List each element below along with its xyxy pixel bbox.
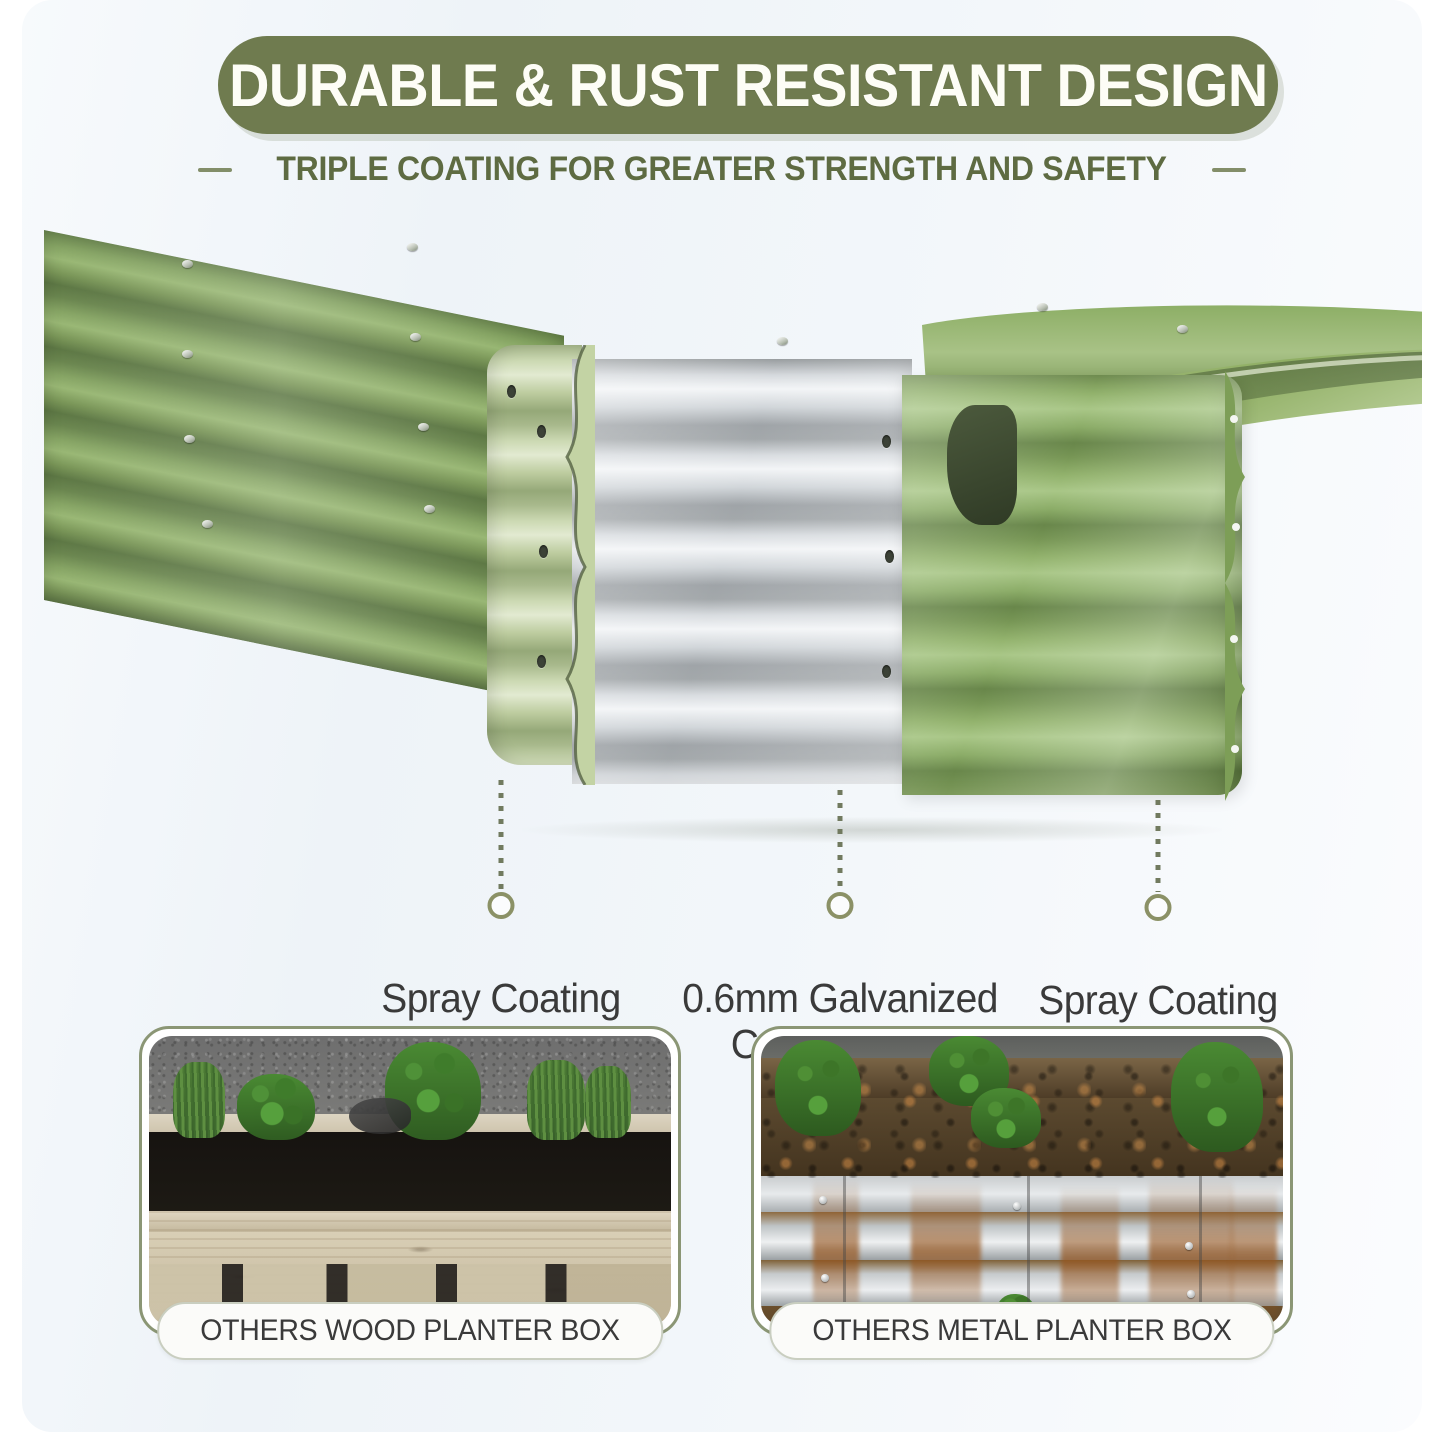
callout-dotted-line — [838, 790, 843, 890]
bolt-hole-icon — [539, 545, 548, 558]
galvanized-steel-panel — [572, 359, 912, 784]
rivet-icon — [1187, 1290, 1195, 1298]
seedling-plant — [775, 1040, 861, 1136]
rust-stain — [911, 1182, 981, 1322]
wood-planter-photo — [149, 1036, 671, 1326]
rivet-icon — [819, 1196, 827, 1204]
rivet-icon — [821, 1274, 829, 1282]
bolt-hole-icon — [507, 385, 516, 398]
rivet-icon — [202, 520, 213, 528]
callout-ring-icon — [1145, 894, 1172, 921]
rosemary-plant — [173, 1062, 225, 1138]
bolt-hole-icon — [882, 435, 891, 448]
rivet-icon — [182, 260, 193, 268]
page-subtitle: TRIPLE COATING FOR GREATER STRENGTH AND … — [277, 150, 1167, 189]
rivet-icon — [182, 350, 193, 358]
comparison-card-metal: OTHERS METAL PLANTER BOX — [751, 1026, 1293, 1336]
rivet-icon — [1177, 325, 1188, 333]
content-panel: DURABLE & RUST RESISTANT DESIGN TRIPLE C… — [22, 0, 1422, 1432]
dark-foliage — [349, 1098, 411, 1134]
basil-plant — [237, 1074, 315, 1140]
infographic-page: DURABLE & RUST RESISTANT DESIGN TRIPLE C… — [0, 0, 1445, 1445]
seedling-plant — [1171, 1042, 1263, 1152]
rivet-icon — [418, 423, 429, 431]
product-photo — [22, 205, 1422, 885]
metal-planter-photo — [761, 1036, 1283, 1326]
rivet-icon — [410, 333, 421, 341]
subtitle-row: TRIPLE COATING FOR GREATER STRENGTH AND … — [22, 150, 1422, 189]
corrugation-edge-right — [1225, 371, 1265, 801]
bed-interior-opening — [947, 405, 1017, 525]
rivet-icon — [424, 505, 435, 513]
callout-ring-icon — [488, 892, 515, 919]
rivet-icon — [184, 435, 195, 443]
rivet-icon — [1013, 1202, 1021, 1210]
bolt-hole-icon — [882, 665, 891, 678]
title-banner: DURABLE & RUST RESISTANT DESIGN — [218, 36, 1278, 134]
bolt-hole-icon — [537, 425, 546, 438]
rivet-icon — [777, 337, 788, 345]
comparison-card-wood: OTHERS WOOD PLANTER BOX — [139, 1026, 681, 1336]
dash-left-icon — [198, 168, 232, 172]
page-title: DURABLE & RUST RESISTANT DESIGN — [229, 51, 1268, 120]
bolt-hole-icon — [885, 550, 894, 563]
dash-right-icon — [1212, 168, 1246, 172]
rosemary-plant — [527, 1060, 585, 1140]
callout-dotted-line — [1156, 800, 1161, 892]
corrugation-seam-left — [555, 345, 595, 785]
comparison-badge-wood: OTHERS WOOD PLANTER BOX — [157, 1302, 663, 1360]
product-shadow — [522, 817, 1222, 843]
bolt-hole-icon — [537, 655, 546, 668]
rosemary-plant — [585, 1066, 631, 1138]
rivet-icon — [407, 243, 418, 251]
callout-dotted-line — [499, 780, 504, 890]
rivet-icon — [1185, 1242, 1193, 1250]
rivet-icon — [1037, 303, 1048, 311]
seedling-plant — [971, 1088, 1041, 1148]
comparison-badge-metal: OTHERS METAL PLANTER BOX — [769, 1302, 1274, 1360]
bed-body — [477, 285, 1277, 825]
callout-ring-icon — [827, 892, 854, 919]
